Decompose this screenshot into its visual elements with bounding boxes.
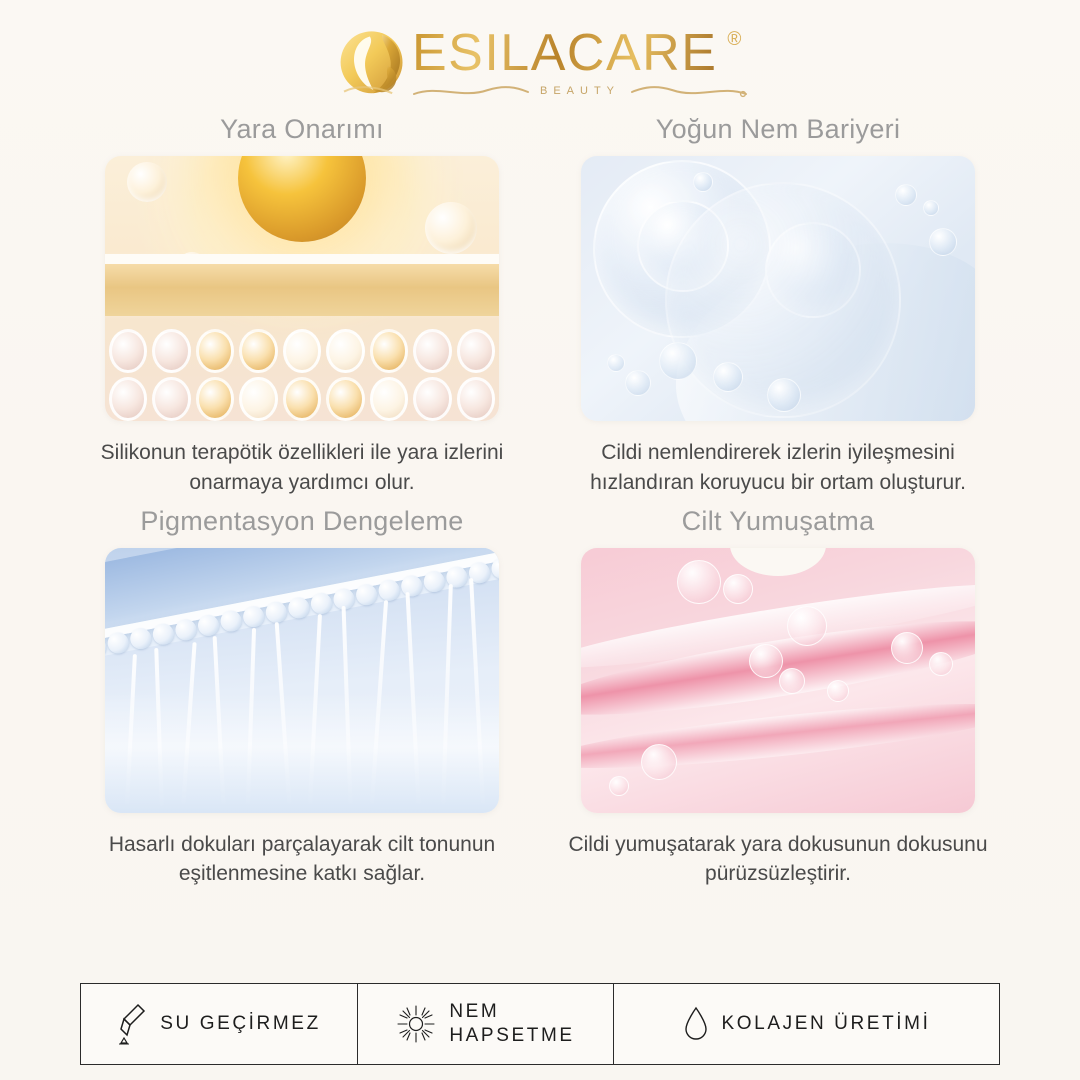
hydration-barrier-water-bubbles-image — [581, 156, 975, 421]
badge-waterproof[interactable]: SU GEÇİRMEZ — [81, 984, 358, 1064]
gel-bubble — [723, 574, 753, 604]
registered-trademark-icon: ® — [727, 29, 741, 51]
feature-title: Cilt Yumuşatma — [682, 506, 875, 537]
water-bubble — [923, 200, 939, 216]
badge-label: SU GEÇİRMEZ — [160, 1012, 321, 1036]
water-bubble — [659, 342, 697, 380]
water-bubble — [625, 370, 651, 396]
gel-bubble — [749, 644, 783, 678]
wound-repair-skin-layers-image — [105, 156, 499, 421]
decorative-bubble — [127, 162, 167, 202]
feature-badge-bar: SU GEÇİRMEZ NE — [80, 983, 1000, 1065]
badge-label: KOLAJEN ÜRETİMİ — [722, 1012, 931, 1036]
brand-wordmark-wrap: ESILACARE ® BEAUTY — [412, 19, 748, 99]
gel-bubble — [779, 668, 805, 694]
feature-caption: Cildi yumuşatarak yara dokusunun dokusun… — [563, 830, 993, 890]
sun-rays-icon — [396, 1004, 436, 1044]
gel-bubble — [677, 560, 721, 604]
badge-collagen-production[interactable]: KOLAJEN ÜRETİMİ — [614, 984, 999, 1064]
feature-grid: Yara Onarımı Silikonun terapötik özellik… — [0, 114, 1080, 889]
feature-card-pigmentation-balance: Pigmentasyon Dengeleme — [72, 506, 532, 890]
swash-flourish-left-icon — [412, 83, 530, 99]
feature-title: Yara Onarımı — [220, 114, 384, 145]
water-drop-icon — [683, 1005, 709, 1043]
skin-softening-pink-gel-image — [581, 548, 975, 813]
fiber-floor — [105, 693, 499, 813]
top-notch — [730, 548, 826, 576]
water-bubble — [767, 378, 801, 412]
woman-face-emblem-icon — [332, 21, 418, 107]
badge-moisture-lock[interactable]: NEM HAPSETME — [358, 984, 614, 1064]
dropper-pipette-icon — [117, 1002, 147, 1046]
water-bubble — [693, 172, 713, 192]
decorative-bubble — [425, 202, 477, 254]
gel-bubble — [787, 606, 827, 646]
feature-title: Yoğun Nem Bariyeri — [656, 114, 901, 145]
feature-card-skin-softening: Cilt Yumuşatma Cildi yumuşatarak yara do… — [548, 506, 1008, 890]
water-bubble — [929, 228, 957, 256]
water-bubble — [713, 362, 743, 392]
gel-bubble — [891, 632, 923, 664]
brand-lockup: ESILACARE ® BEAUTY — [332, 19, 748, 107]
gel-bubble — [827, 680, 849, 702]
pigmentation-balance-fibers-image — [105, 548, 499, 813]
water-bubble — [895, 184, 917, 206]
product-feature-infographic: ESILACARE ® BEAUTY Yara Onarım — [0, 0, 1080, 1080]
feature-caption: Cildi nemlendirerek izlerin iyileşmesini… — [563, 438, 993, 498]
feature-card-wound-repair: Yara Onarımı Silikonun terapötik özellik… — [72, 114, 532, 498]
cell-row — [105, 370, 499, 421]
feature-caption: Silikonun terapötik özellikleri ile yara… — [87, 438, 517, 498]
feature-title: Pigmentasyon Dengeleme — [140, 506, 463, 537]
dermis-band — [105, 254, 499, 316]
gel-bubble — [609, 776, 629, 796]
water-bubble — [607, 354, 625, 372]
feature-caption: Hasarlı dokuları parçalayarak cilt tonun… — [87, 830, 517, 890]
gel-bubble — [929, 652, 953, 676]
badge-label: NEM HAPSETME — [449, 1000, 574, 1049]
feature-card-hydration-barrier: Yoğun Nem Bariyeri Cildi nemlendirerek i… — [548, 114, 1008, 498]
swash-flourish-right-icon — [630, 83, 748, 99]
brand-wordmark: ESILACARE — [412, 24, 717, 82]
brand-tagline-row: BEAUTY — [412, 83, 748, 99]
brand-header: ESILACARE ® BEAUTY — [0, 0, 1080, 112]
brand-tagline: BEAUTY — [540, 85, 620, 97]
gel-bubble — [641, 744, 677, 780]
